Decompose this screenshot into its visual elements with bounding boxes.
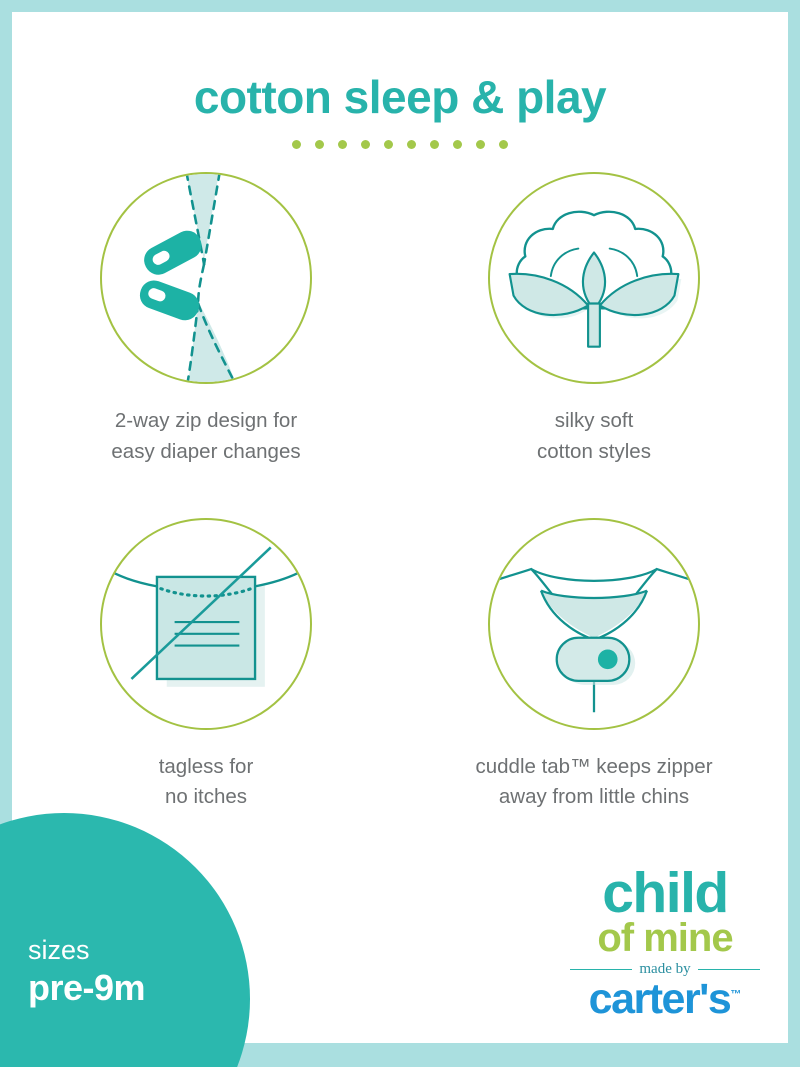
logo-rule-left — [570, 969, 632, 971]
divider-dot — [453, 140, 462, 149]
logo-carters-word: carter's — [589, 975, 731, 1023]
size-badge-content: sizes pre-9m — [28, 935, 145, 1009]
logo-carters-text: carter's™ — [570, 978, 760, 1021]
cotton-boll-icon — [490, 174, 698, 382]
collar-cuddle-tab-icon — [490, 520, 698, 728]
feature-grid: 2-way zip design for easy diaper changes — [12, 172, 788, 813]
divider-dot — [430, 140, 439, 149]
tagless-crossed-out-icon — [102, 520, 310, 728]
feature-row: 2-way zip design for easy diaper changes — [12, 172, 788, 468]
feature-row: tagless for no itches — [12, 518, 788, 814]
two-way-zipper-icon — [102, 174, 310, 382]
feature-caption: tagless for no itches — [159, 752, 254, 814]
divider-dot — [315, 140, 324, 149]
poster-root: cotton sleep & play — [0, 0, 800, 1067]
logo-of-mine-text: of mine — [570, 918, 760, 958]
brand-logo: child of mine made by carter's™ — [570, 865, 760, 1021]
size-badge-label: sizes — [28, 935, 145, 966]
divider-dot — [384, 140, 393, 149]
feature-item-cotton: silky soft cotton styles — [400, 172, 788, 468]
feature-item-tagless: tagless for no itches — [12, 518, 400, 814]
feature-icon-circle — [488, 172, 700, 384]
feature-icon-circle — [488, 518, 700, 730]
feature-caption: cuddle tab™ keeps zipper away from littl… — [475, 752, 712, 814]
feature-item-zipper: 2-way zip design for easy diaper changes — [12, 172, 400, 468]
feature-item-cuddle-tab: cuddle tab™ keeps zipper away from littl… — [400, 518, 788, 814]
divider-dot — [499, 140, 508, 149]
divider-dot — [476, 140, 485, 149]
feature-icon-circle — [100, 172, 312, 384]
feature-caption: 2-way zip design for easy diaper changes — [111, 406, 300, 468]
logo-rule-right — [698, 969, 760, 971]
divider-dot — [338, 140, 347, 149]
page-title: cotton sleep & play — [12, 70, 788, 124]
divider-dot — [407, 140, 416, 149]
logo-child-text: child — [570, 865, 760, 922]
divider-dots — [12, 140, 788, 149]
size-badge-value: pre-9m — [28, 966, 145, 1009]
feature-caption: silky soft cotton styles — [537, 406, 651, 468]
feature-icon-circle — [100, 518, 312, 730]
divider-dot — [292, 140, 301, 149]
divider-dot — [361, 140, 370, 149]
logo-trademark: ™ — [730, 989, 741, 1001]
